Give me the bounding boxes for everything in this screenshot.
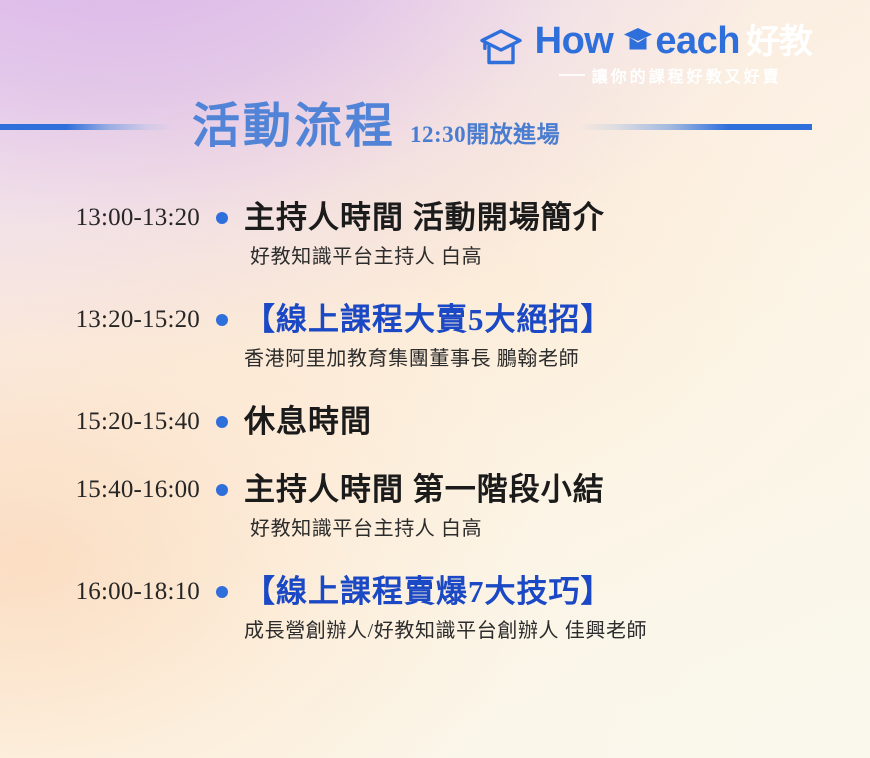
bullet-dot-icon (216, 484, 228, 496)
bullet-dot-icon (216, 416, 228, 428)
schedule-title: 【線上課程大賣5大絕招】 (244, 300, 870, 340)
schedule-title: 主持人時間 第一階段小結 (244, 470, 870, 510)
brand-logo: How each 好教 讓你的課程好教又好賣 (477, 22, 812, 87)
bullet-dot-icon (216, 314, 228, 326)
logo-word-chinese: 好教 (746, 25, 812, 59)
schedule-bullet (200, 198, 244, 238)
schedule-text: 【線上課程賣爆7大技巧】 成長營創辦人/好教知識平台創辦人 佳興老師 (244, 572, 870, 646)
schedule-subtitle: 好教知識平台主持人 白高 (250, 514, 870, 544)
schedule-row: 15:20-15:40 休息時間 (0, 402, 870, 442)
graduation-cap-filled-icon (623, 25, 653, 55)
logo-text-group: How each 好教 讓你的課程好教又好賣 (535, 22, 812, 87)
tagline-dash-icon (559, 74, 585, 76)
schedule-title: 主持人時間 活動開場簡介 (244, 198, 870, 238)
schedule-time: 16:00-18:10 (0, 572, 200, 612)
schedule-bullet (200, 470, 244, 510)
schedule-text: 主持人時間 第一階段小結 好教知識平台主持人 白高 (244, 470, 870, 544)
schedule-subtitle: 香港阿里加教育集團董事長 鵬翰老師 (244, 344, 870, 374)
heading-rule-right (578, 124, 812, 130)
schedule-bullet (200, 572, 244, 612)
schedule-time: 13:20-15:20 (0, 300, 200, 340)
schedule-title: 【線上課程賣爆7大技巧】 (244, 572, 870, 612)
schedule-row: 15:40-16:00 主持人時間 第一階段小結 好教知識平台主持人 白高 (0, 470, 870, 544)
bullet-dot-icon (216, 586, 228, 598)
heading-subtitle: 12:30開放進場 (410, 115, 560, 149)
schedule-time: 15:20-15:40 (0, 402, 200, 442)
schedule-text: 主持人時間 活動開場簡介 好教知識平台主持人 白高 (244, 198, 870, 272)
schedule-bullet (200, 300, 244, 340)
schedule-row: 13:20-15:20 【線上課程大賣5大絕招】 香港阿里加教育集團董事長 鵬翰… (0, 300, 870, 374)
heading-center: 活動流程 12:30開放進場 (174, 103, 578, 151)
schedule-row: 16:00-18:10 【線上課程賣爆7大技巧】 成長營創辦人/好教知識平台創辦… (0, 572, 870, 646)
heading-rule-left (0, 124, 174, 130)
logo-wordmark: How each 好教 (535, 22, 812, 60)
schedule-subtitle: 好教知識平台主持人 白高 (250, 242, 870, 272)
schedule-title: 休息時間 (244, 402, 870, 442)
schedule-bullet (200, 402, 244, 442)
logo-tagline-row: 讓你的課程好教又好賣 (559, 63, 782, 87)
logo-word-how: How (535, 22, 614, 60)
schedule-text: 休息時間 (244, 402, 870, 442)
graduation-cap-icon (477, 24, 525, 72)
schedule-row: 13:00-13:20 主持人時間 活動開場簡介 好教知識平台主持人 白高 (0, 198, 870, 272)
schedule-time: 13:00-13:20 (0, 198, 200, 238)
page-title: 活動流程 (192, 103, 396, 151)
schedule-list: 13:00-13:20 主持人時間 活動開場簡介 好教知識平台主持人 白高 13… (0, 198, 870, 646)
logo-word-each: each (655, 22, 740, 60)
schedule-text: 【線上課程大賣5大絕招】 香港阿里加教育集團董事長 鵬翰老師 (244, 300, 870, 374)
bullet-dot-icon (216, 212, 228, 224)
schedule-subtitle: 成長營創辦人/好教知識平台創辦人 佳興老師 (244, 616, 870, 646)
section-heading-band: 活動流程 12:30開放進場 (0, 96, 870, 158)
logo-tagline: 讓你的課程好教又好賣 (592, 63, 782, 87)
schedule-time: 15:40-16:00 (0, 470, 200, 510)
event-schedule-poster: How each 好教 讓你的課程好教又好賣 活動流程 12:30開放進場 (0, 0, 870, 758)
